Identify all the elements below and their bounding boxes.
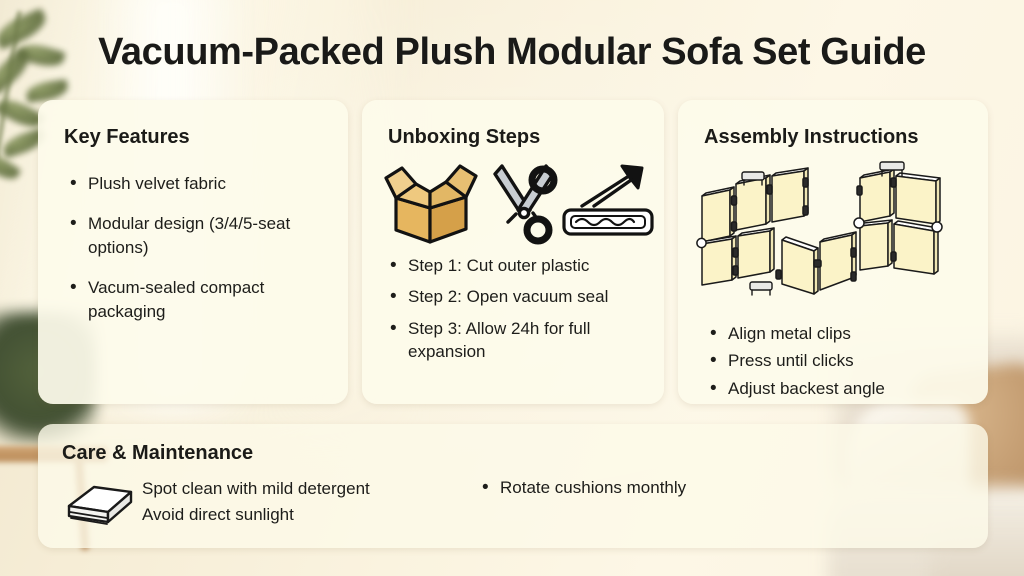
care-right-list: Rotate cushions monthly — [478, 476, 808, 499]
list-item: Step 3: Allow 24h for full expansion — [386, 317, 644, 364]
care-maintenance-card: Care & Maintenance Spot clean with mild … — [38, 424, 988, 548]
expanding-mattress-icon — [560, 162, 656, 246]
list-item: Modular design (3/4/5-seat options) — [66, 212, 328, 259]
list-item: Align metal clips — [706, 322, 974, 345]
care-line: Spot clean with mild detergent — [142, 476, 472, 502]
care-line: Avoid direct sunlight — [142, 502, 472, 528]
assembly-instructions-card: Assembly Instructions — [678, 100, 988, 404]
assembly-instructions-list: Align metal clips Press until clicks Adj… — [706, 322, 974, 404]
care-maintenance-title: Care & Maintenance — [62, 442, 253, 465]
list-item: Plush velvet fabric — [66, 172, 328, 195]
list-item: Adjust backest angle — [706, 377, 974, 400]
unboxing-icon-row — [382, 160, 644, 244]
list-item: Rotate cushions monthly — [478, 476, 808, 499]
assembly-instructions-title: Assembly Instructions — [704, 126, 919, 149]
care-left-lines: Spot clean with mild detergent Avoid dir… — [142, 476, 472, 527]
folded-towel-icon — [64, 480, 136, 532]
list-item: Press until clicks — [706, 349, 974, 372]
list-item: Step 2: Open vacuum seal — [386, 285, 644, 308]
modular-sofa-panels-diagram — [688, 152, 980, 324]
scissors-icon — [486, 160, 562, 244]
key-features-title: Key Features — [64, 126, 190, 149]
open-box-icon — [382, 162, 478, 246]
unboxing-steps-title: Unboxing Steps — [388, 126, 540, 149]
list-item: Vacum-sealed compact packaging — [66, 276, 328, 323]
page-title: Vacuum-Packed Plush Modular Sofa Set Gui… — [0, 31, 1024, 74]
key-features-card: Key Features Plush velvet fabric Modular… — [38, 100, 348, 404]
list-item: Step 1: Cut outer plastic — [386, 254, 644, 277]
key-features-list: Plush velvet fabric Modular design (3/4/… — [66, 172, 328, 340]
unboxing-steps-list: Step 1: Cut outer plastic Step 2: Open v… — [386, 254, 644, 372]
unboxing-steps-card: Unboxing Steps — [362, 100, 664, 404]
